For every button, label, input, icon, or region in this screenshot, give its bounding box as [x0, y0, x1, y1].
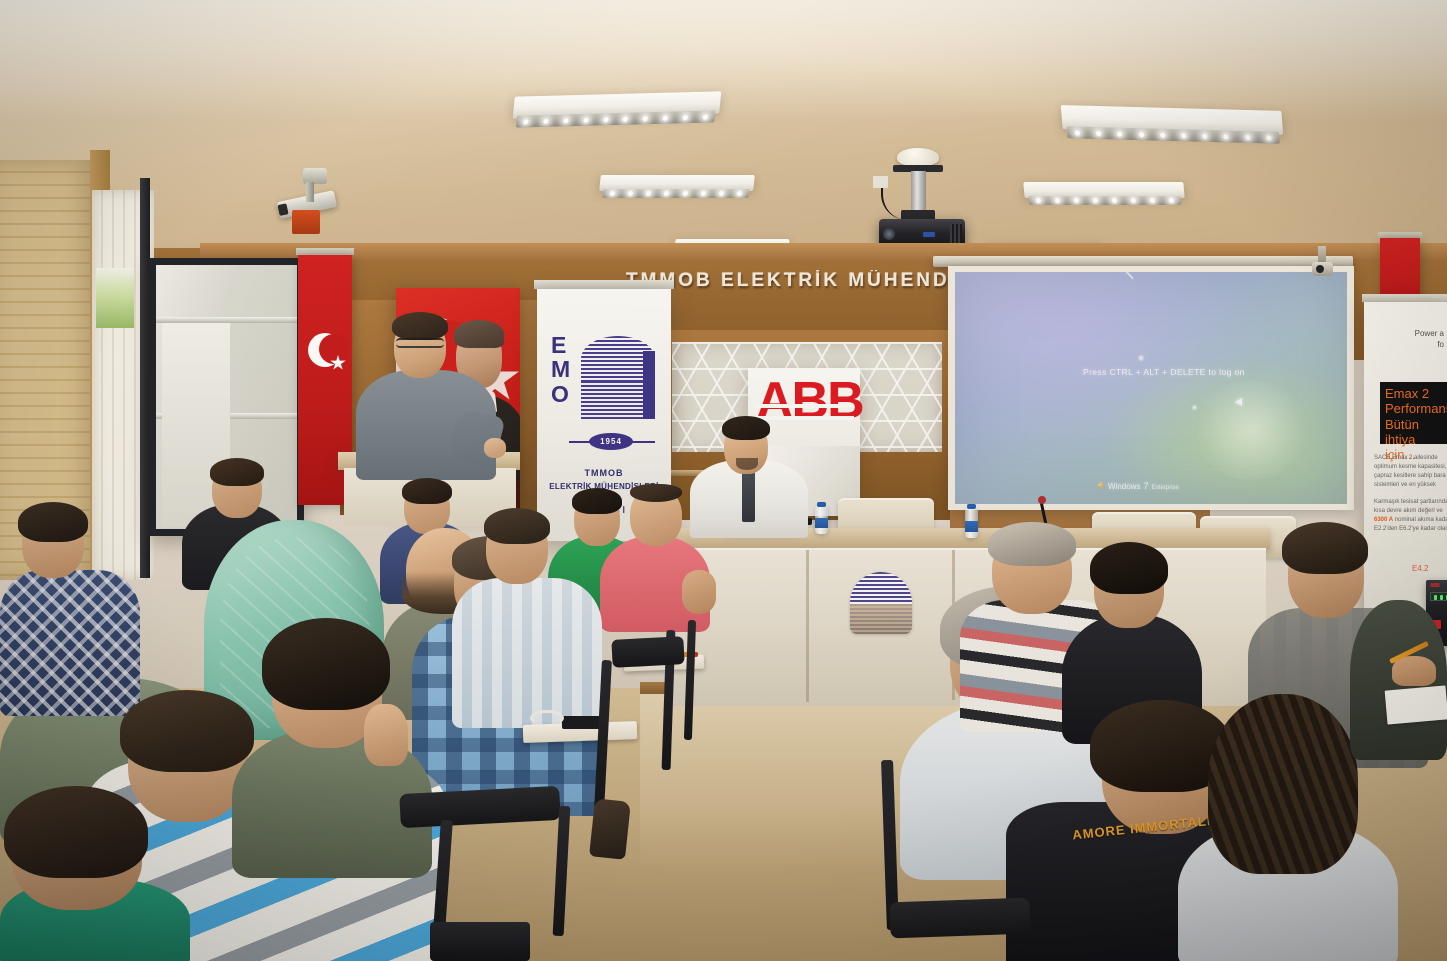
emo-caption-line1: TMMOB — [539, 467, 669, 481]
projector-cable-box — [873, 176, 888, 188]
ceiling-light-1 — [513, 91, 722, 118]
bag-on-floor — [589, 798, 631, 859]
person-hair — [484, 508, 550, 544]
emo-letter-m: M — [551, 357, 571, 381]
ataturk-figure-hair — [454, 320, 504, 348]
cable-on-tablet-1 — [530, 710, 564, 726]
camera-lens — [277, 203, 288, 216]
person-hair — [18, 502, 88, 542]
flag-rail-left — [296, 248, 354, 255]
windows-edition: Enterprise — [1151, 485, 1178, 491]
water-bottle-1-label — [815, 518, 828, 528]
person-hair — [1090, 542, 1168, 594]
person-body-checked — [452, 578, 602, 728]
wallpaper-glow-1 — [1191, 380, 1311, 480]
audience-person-bottomleft — [0, 800, 190, 961]
camera-power-box — [292, 210, 320, 234]
writing-paper — [1385, 685, 1447, 724]
mouse-cursor — [1235, 398, 1242, 406]
person-hair — [4, 786, 148, 878]
emax-headline-line1: Emax 2 — [1385, 386, 1447, 401]
ceiling-light-3 — [599, 175, 755, 191]
podium-speaker-hand — [484, 438, 506, 458]
windows-brand: Windows 7 Enterprise — [1097, 481, 1179, 491]
audience-person-patterned-blue — [0, 508, 140, 708]
person-writing-hand — [1392, 656, 1436, 686]
emax-headline-box: Emax 2 Performans Bütün ihtiya için... — [1380, 382, 1447, 444]
abb-logo-strike-1 — [756, 404, 854, 408]
person-hair — [262, 618, 390, 710]
emax-headline-line2: Performans — [1385, 401, 1447, 416]
emax-banner-rail — [1362, 294, 1447, 302]
wallpaper-glow-3 — [1191, 404, 1198, 411]
lecture-chair-back-3 — [889, 898, 1030, 939]
person-hand-on-face — [364, 704, 408, 766]
audience-person-back-4-pink — [600, 486, 710, 626]
emax-headline-line3: Bütün ihtiya — [1385, 417, 1447, 448]
ceiling-highlight — [0, 0, 1447, 120]
abb-logo-strike-2 — [756, 416, 854, 420]
table-speaker-hair — [722, 416, 770, 440]
projector-indicator — [923, 232, 935, 237]
person-hair — [402, 478, 452, 504]
windows-brand-name: Windows — [1108, 482, 1140, 491]
water-bottle-1 — [815, 506, 828, 534]
logon-prompt-text: Press CTRL + ALT + DELETE to log on — [1083, 367, 1245, 377]
windows-version: 7 — [1143, 481, 1148, 491]
ceiling-light-2 — [1061, 105, 1283, 135]
person-hair — [630, 484, 682, 502]
emax-body-para-1: SACE Emax 2 ailesinde optimum kesme kapa… — [1374, 454, 1447, 488]
smoke-detector — [897, 148, 939, 166]
water-bottle-2-cap — [967, 504, 976, 509]
podium-speaker-hair — [392, 312, 448, 340]
lecture-chair-back-1 — [611, 636, 684, 668]
audience-person-darkhair-foreground — [232, 618, 432, 868]
person-arm — [682, 570, 716, 614]
emo-banner-rail — [534, 280, 674, 289]
window-view — [96, 268, 134, 328]
emo-logo-letters: E M O — [551, 333, 571, 406]
wallpaper-glow-2 — [1137, 354, 1145, 362]
person-hair — [210, 458, 264, 486]
ceiling-light-4 — [1023, 182, 1184, 198]
screen-side-camera-lens — [1316, 265, 1324, 273]
audience-person-checked — [452, 512, 602, 722]
projector-lens — [883, 228, 895, 240]
emax-header-line1: Power a — [1368, 328, 1444, 339]
table-speaker-tie — [742, 472, 755, 522]
projection-screen: Press CTRL + ALT + DELETE to log on Wind… — [955, 272, 1347, 504]
emax-header-line2: fo — [1368, 339, 1444, 350]
emax-body-para-2: Karmaşık tesisat şartlarında, kısa devre… — [1374, 498, 1447, 532]
person-body-patterned — [0, 570, 140, 716]
emo-letter-o: O — [551, 382, 571, 406]
water-bottle-1-cap — [817, 502, 826, 507]
emo-founded-badge: 1954 — [589, 433, 633, 450]
table-speaker-beard — [736, 458, 758, 470]
person-long-hair — [1208, 694, 1358, 874]
table-mic-2-head — [1038, 496, 1046, 504]
emo-logo-solid-bar — [643, 351, 655, 419]
emo-letter-e: E — [551, 333, 571, 357]
windows-logo-icon — [1097, 481, 1105, 489]
emax-header: Power a fo — [1368, 328, 1444, 350]
camera-arm — [306, 182, 314, 202]
seminar-room-photo: TMMOB ELEKTRİK MÜHENDİSLERİ O — [0, 0, 1447, 961]
emax-para2-pre: Karmaşık tesisat şartlarında, kısa devre… — [1374, 499, 1447, 514]
emax-headline: Emax 2 Performans Bütün ihtiya için... — [1385, 386, 1447, 463]
emax-para2-highlight: 6300 A — [1374, 517, 1393, 523]
head-table-seam-1 — [806, 550, 809, 702]
briefcase-foreground — [430, 922, 530, 961]
podium-speaker-glasses — [396, 338, 444, 348]
audience-person-writing — [1350, 560, 1447, 760]
